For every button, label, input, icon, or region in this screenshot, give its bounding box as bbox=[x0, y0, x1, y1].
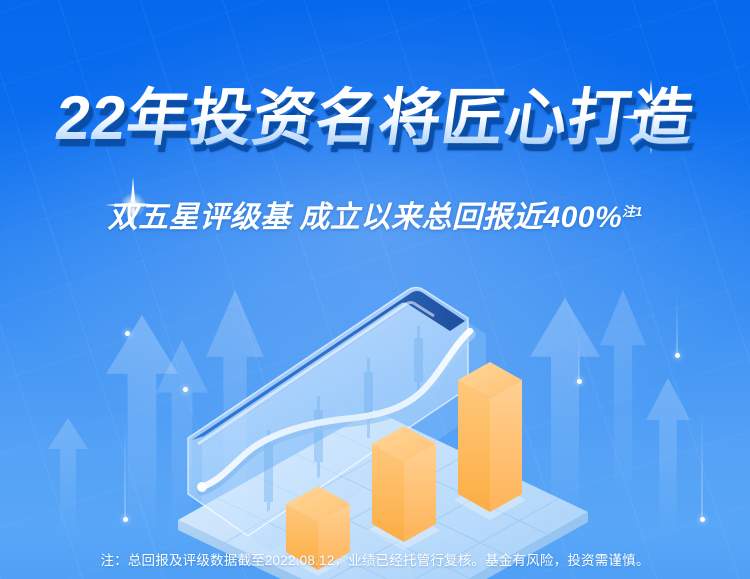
poster-subtitle: 双五星评级基 成立以来总回报近400%注1 bbox=[108, 192, 643, 236]
arrow-small-right-icon bbox=[646, 378, 690, 530]
subtitle-footnote-marker: 注1 bbox=[622, 204, 642, 219]
arrow-small-left-icon bbox=[48, 418, 88, 530]
bar-3 bbox=[458, 362, 522, 512]
headline-face: 22年投资名将匠心打造 bbox=[51, 84, 699, 153]
subtitle-block: 双五星评级基 成立以来总回报近400%注1 bbox=[0, 192, 750, 236]
subtitle-text: 双五星评级基 成立以来总回报近400% bbox=[108, 201, 623, 234]
arrow-mid-right-icon bbox=[600, 290, 646, 490]
poster-headline: 22年投资名将匠心打造 22年投资名将匠心打造 bbox=[52, 88, 699, 150]
bar-2 bbox=[372, 426, 436, 542]
dot-right-upper bbox=[674, 294, 680, 358]
headline-block: 22年投资名将匠心打造 22年投资名将匠心打造 bbox=[0, 88, 750, 150]
poster-root: 22年投资名将匠心打造 22年投资名将匠心打造 双五星评级基 成立以来总回报近4… bbox=[0, 0, 750, 579]
dot-right-lower bbox=[699, 408, 705, 522]
isometric-chart-illustration bbox=[168, 268, 598, 558]
disclaimer-note: 注：总回报及评级数据截至2022.08.12，业绩已经托管行复核。基金有风险，投… bbox=[0, 549, 750, 569]
dot-left-upper bbox=[124, 330, 130, 336]
dot-left-lower bbox=[122, 418, 128, 522]
